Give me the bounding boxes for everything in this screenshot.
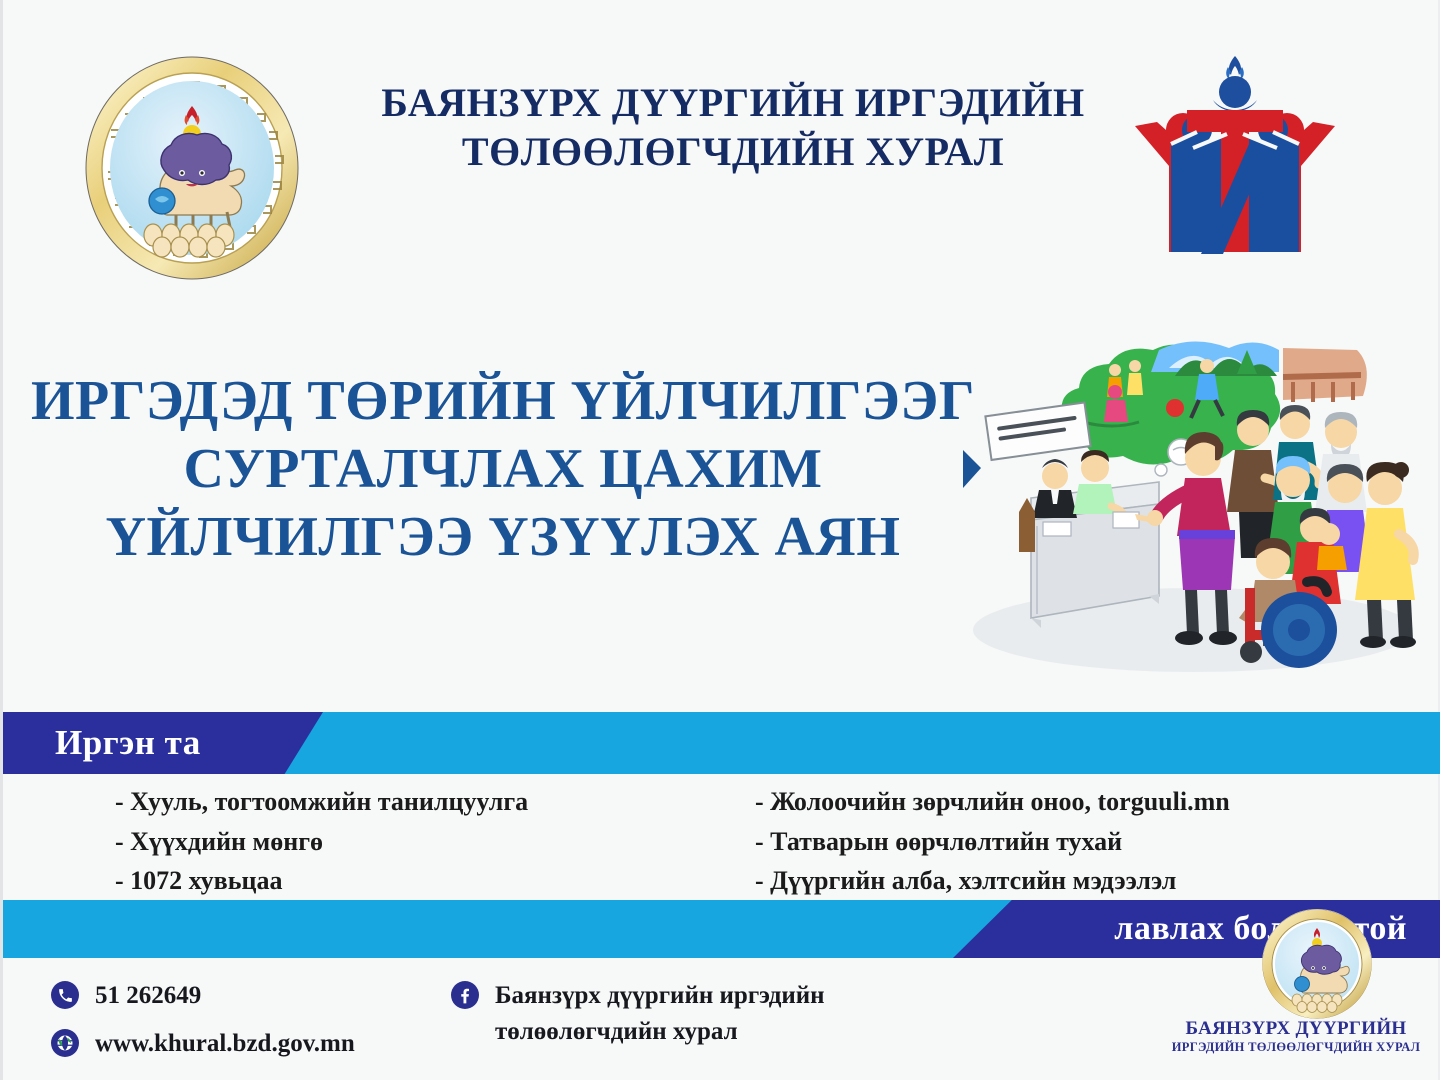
- phone-number: 51 262649: [95, 978, 201, 1014]
- bayanzurkh-district-council-logo-icon: [1131, 48, 1339, 264]
- list-item: - Дүүргийн алба, хэлтсийн мэдээлэл: [755, 861, 1415, 901]
- list-item: - 1072 хувьцаа: [115, 861, 755, 901]
- footer-crest-line-2: ИРГЭДИЙН ТӨЛӨӨЛӨГЧДИЙН ХУРАЛ: [1151, 1040, 1440, 1055]
- campaign-title: ИРГЭДЭД ТӨРИЙН ҮЙЛЧИЛГЭЭГ СУРТАЛЧЛАХ ЦАХ…: [13, 368, 993, 571]
- poster-header: БАЯНЗҮРХ ДҮҮРГИЙН ИРГЭДИЙН ТӨЛӨӨЛӨГЧДИЙН…: [3, 0, 1440, 300]
- footer-crest-line-1: БАЯНЗҮРХ ДҮҮРГИЙН: [1151, 1018, 1440, 1039]
- footer-crest-caption: БАЯНЗҮРХ ДҮҮРГИЙН ИРГЭДИЙН ТӨЛӨӨЛӨГЧДИЙН…: [1151, 1018, 1440, 1055]
- facebook-line-1: Баянзүрх дүүргийн иргэдийн: [495, 982, 825, 1009]
- phone-row[interactable]: 51 262649: [51, 978, 355, 1014]
- organization-title: БАЯНЗҮРХ ДҮҮРГИЙН ИРГЭДИЙН ТӨЛӨӨЛӨГЧДИЙН…: [333, 78, 1133, 176]
- website-url: www.khural.bzd.gov.mn: [95, 1026, 355, 1062]
- list-item: - Жолоочийн зөрчлийн оноо, torguuli.mn: [755, 782, 1415, 822]
- public-service-meeting-illustration: [963, 330, 1440, 675]
- facebook-icon: [451, 981, 479, 1009]
- facebook-page-name: Баянзүрх дүүргийн иргэдийн төлөөлөгчдийн…: [495, 978, 825, 1049]
- list-item: - Татварын өөрчлөлтийн тухай: [755, 822, 1415, 862]
- list-item: - Хууль, тогтоомжийн танилцуулга: [115, 782, 755, 822]
- website-row[interactable]: www.khural.bzd.gov.mn: [51, 1026, 355, 1062]
- contact-block-facebook: Баянзүрх дүүргийн иргэдийн төлөөлөгчдийн…: [451, 978, 825, 1061]
- facebook-line-2: төлөөлөгчдийн хурал: [495, 1018, 738, 1045]
- facebook-row[interactable]: Баянзүрх дүүргийн иргэдийн төлөөлөгчдийн…: [451, 978, 825, 1049]
- services-lists: - Хууль, тогтоомжийн танилцуулга - Хүүхд…: [3, 782, 1440, 890]
- contact-block-primary: 51 262649 www.khural.bzd.gov.mn: [51, 978, 355, 1073]
- mongolia-state-lion-crest-icon: [81, 52, 303, 280]
- citizen-ribbon: Иргэн та: [3, 712, 323, 774]
- phone-icon: [51, 981, 79, 1009]
- citizen-ribbon-label: Иргэн та: [3, 723, 201, 763]
- globe-icon: [51, 1029, 79, 1057]
- list-item: - Хүүхдийн мөнгө: [115, 822, 755, 862]
- services-left-column: - Хууль, тогтоомжийн танилцуулга - Хүүхд…: [115, 782, 755, 901]
- poster-canvas: БАЯНЗҮРХ ДҮҮРГИЙН ИРГЭДИЙН ТӨЛӨӨЛӨГЧДИЙН…: [0, 0, 1440, 1080]
- bayanzurkh-crest-icon: [1261, 908, 1373, 1020]
- services-right-column: - Жолоочийн зөрчлийн оноо, torguuli.mn -…: [755, 782, 1415, 901]
